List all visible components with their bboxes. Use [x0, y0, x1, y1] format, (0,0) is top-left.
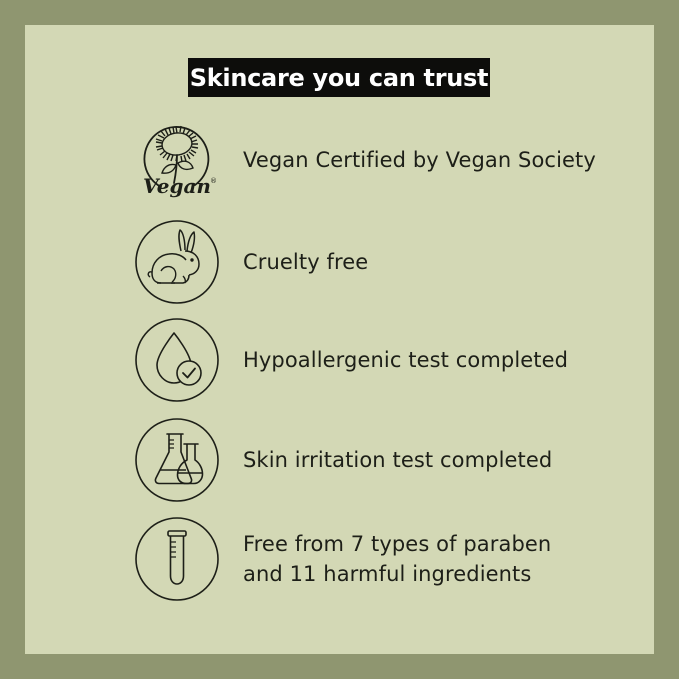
- vegan-wordmark: Vegan: [143, 174, 211, 198]
- claim-label: Free from 7 types of paraben and 11 harm…: [243, 529, 551, 589]
- claim-label: Hypoallergenic test completed: [243, 345, 568, 375]
- title-banner: Skincare you can trust: [188, 58, 490, 97]
- vegan-society-sunflower-logo-icon: Vegan ®: [131, 113, 223, 205]
- page-title: Skincare you can trust: [190, 66, 488, 90]
- claim-label: Cruelty free: [243, 247, 368, 277]
- skincare-trust-infographic: Skincare you can trust: [0, 0, 679, 679]
- water-droplet-check-icon: [131, 314, 223, 406]
- lab-flasks-icon: [131, 414, 223, 506]
- claim-label: Vegan Certified by Vegan Society: [243, 145, 596, 175]
- registered-mark: ®: [210, 177, 217, 185]
- claim-label: Skin irritation test completed: [243, 445, 552, 475]
- content-panel: Skincare you can trust: [25, 25, 654, 654]
- rabbit-icon: [131, 216, 223, 308]
- test-tube-icon: [131, 513, 223, 605]
